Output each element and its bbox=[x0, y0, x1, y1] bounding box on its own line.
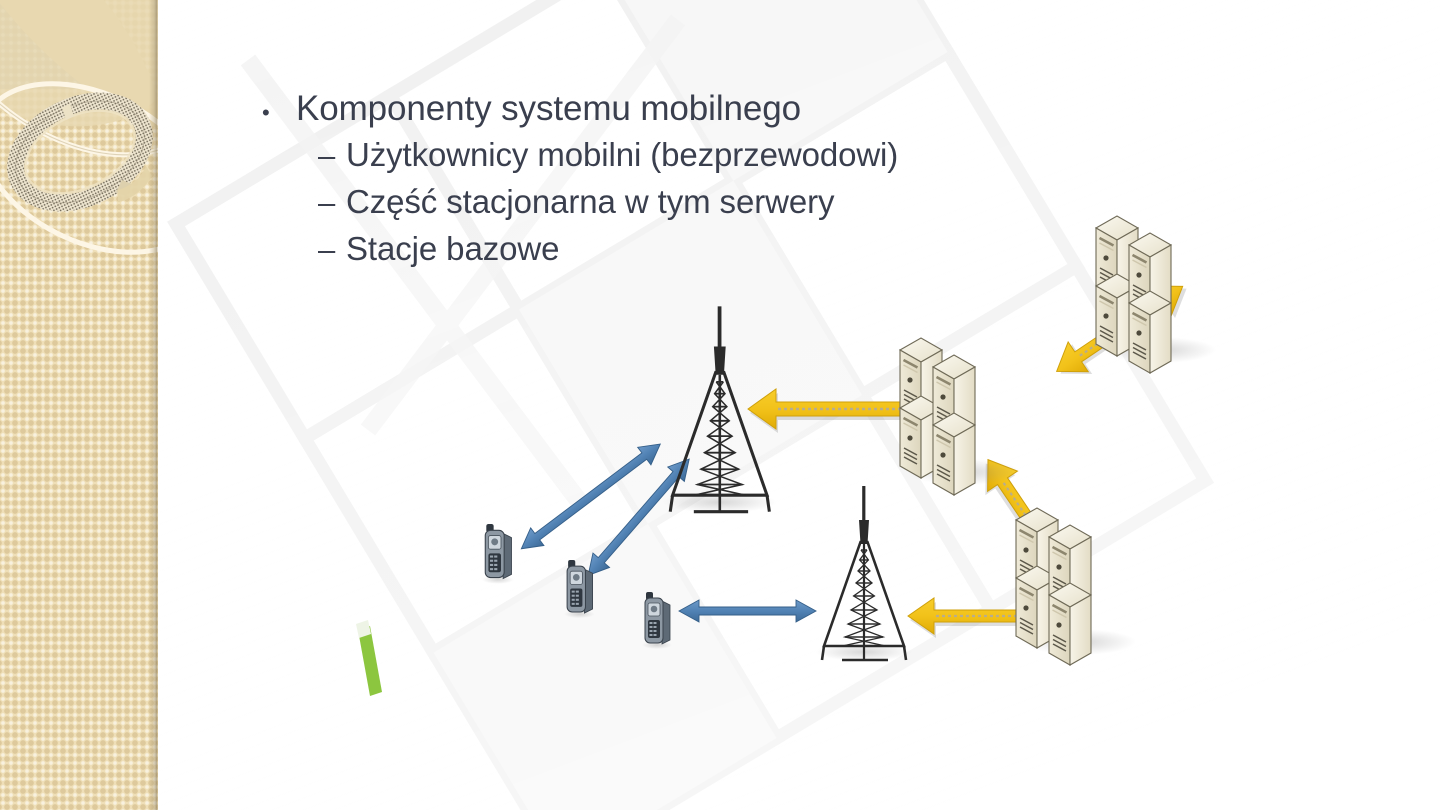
mobile-user-1 bbox=[482, 524, 513, 584]
server-rack-top-right bbox=[1096, 216, 1216, 373]
server-rack-middle bbox=[900, 338, 1020, 495]
sidebar-right-edge-shadow bbox=[149, 0, 158, 810]
link-phone1-tower1-arrow bbox=[515, 435, 667, 557]
mobile-user-3 bbox=[642, 592, 672, 649]
link-phone3-tower2-arrow bbox=[679, 600, 816, 622]
base-station-tower-lower bbox=[816, 486, 912, 661]
server-rack-bottom-right bbox=[1016, 508, 1136, 665]
green-sliver-accent bbox=[356, 620, 382, 696]
slide-canvas: • Komponenty systemu mobilnego – Użytkow… bbox=[0, 0, 1440, 810]
decorative-side-panel bbox=[0, 0, 158, 810]
sidebar-ring-graphics bbox=[0, 0, 158, 810]
mobile-system-architecture-diagram: server-2 : horizontal --> server-1 : dia… bbox=[158, 0, 1440, 810]
